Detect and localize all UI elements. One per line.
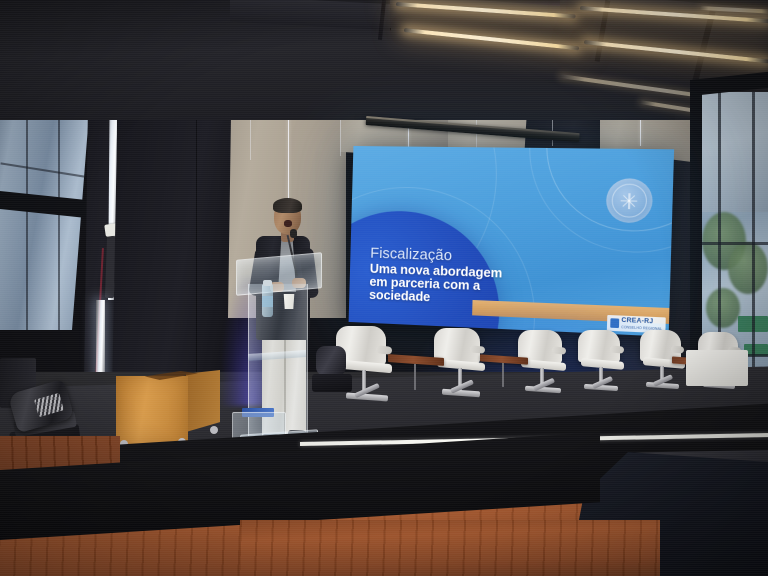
water-bottle[interactable] — [262, 284, 273, 317]
microphone-icon — [290, 229, 297, 238]
window-tree-2 — [728, 242, 768, 294]
crate-caster — [210, 426, 218, 434]
conference-stage-photo: Fiscalização Uma nova abordagem em parce… — [0, 0, 768, 576]
ceiling-panel-1 — [230, 0, 391, 30]
window-tree-3 — [706, 288, 740, 328]
light-lens-icon — [322, 350, 338, 366]
ceiling — [0, 0, 768, 120]
speaker-hair — [273, 198, 302, 213]
lectern-top — [236, 252, 322, 296]
side-table-leg — [414, 364, 416, 390]
speaker-mouth — [284, 220, 292, 227]
wooden-crate-planter — [116, 368, 220, 444]
right-white-table — [686, 350, 748, 386]
crate-front — [116, 376, 188, 444]
window-building — [700, 92, 768, 212]
window-mullion-v2 — [752, 92, 755, 398]
moving-head-stage-light — [312, 346, 356, 398]
paper-cup[interactable] — [283, 294, 295, 309]
light-base — [312, 374, 352, 392]
chair-arm — [610, 345, 625, 353]
chair-base — [442, 389, 480, 398]
bottle-label — [262, 296, 273, 307]
window-mullion-h1 — [700, 242, 768, 245]
chair-arm — [671, 345, 685, 353]
chair-arm — [470, 345, 486, 354]
wood-floor-front — [240, 520, 660, 576]
chair-arm — [552, 346, 567, 354]
bottle-cap — [263, 280, 272, 286]
panel-armchair[interactable] — [578, 330, 630, 396]
side-table-leg — [502, 363, 504, 387]
